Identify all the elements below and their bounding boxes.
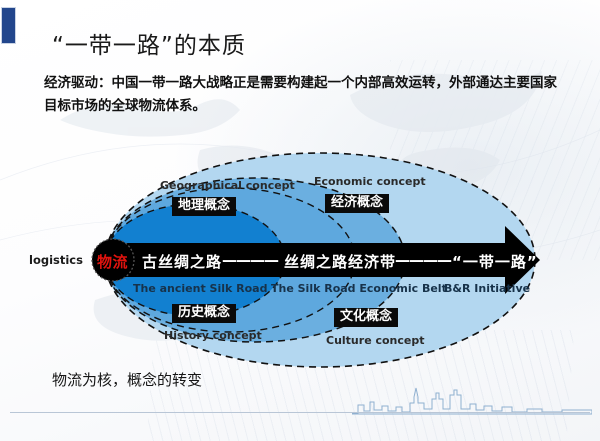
page-title: “一带一路”的本质 xyxy=(52,26,246,60)
bottom-caption: 物流为核，概念的转变 xyxy=(52,369,202,390)
concept-history-cn: 历史概念 xyxy=(172,304,236,323)
slide-subtitle: 经济驱动：中国一带一路大战略正是需要构建起一个内部高效运转，外部通达主要国家目标… xyxy=(44,72,560,118)
concept-geographical-en: Geographical concept xyxy=(160,179,295,192)
arrow-segment-1-en: The ancient Silk Road xyxy=(133,282,267,295)
footer-bar: 让城市有活力 7p 让园区有生命 13 xyxy=(0,413,600,441)
concept-economic-en: Economic concept xyxy=(314,175,426,188)
concept-economic-cn: 经济概念 xyxy=(325,194,389,213)
arrow-segment-3-en: B&R Initiative xyxy=(444,282,530,295)
slide-canvas: “一带一路”的本质 经济驱动：中国一带一路大战略正是需要构建起一个内部高效运转，… xyxy=(0,0,600,441)
title-accent-bar xyxy=(1,7,16,44)
arrow-connector-1: ———— xyxy=(222,251,278,269)
core-label-cn: 物流 xyxy=(97,251,128,272)
concept-culture-cn: 文化概念 xyxy=(334,308,398,327)
arrow-connector-2: ———— xyxy=(395,251,451,269)
concept-history-en: History concept xyxy=(164,329,262,342)
arrow-segment-3-cn: “一带一路” xyxy=(452,251,538,272)
arrow-segment-1-cn: 古丝绸之路 xyxy=(142,251,222,272)
concept-geographical-cn: 地理概念 xyxy=(172,197,236,216)
arrow-segment-2-cn: 丝绸之路经济带 xyxy=(284,251,396,272)
logistics-label: logistics xyxy=(29,253,83,267)
arrow-segment-2-en: The Silk Road Economic Belt xyxy=(271,282,447,295)
concept-culture-en: Culture concept xyxy=(326,334,425,347)
concept-diagram: logistics 物流 古丝绸之路 ———— 丝绸之路经济带 ———— “一带… xyxy=(0,140,600,385)
skyline-decoration xyxy=(352,385,592,415)
